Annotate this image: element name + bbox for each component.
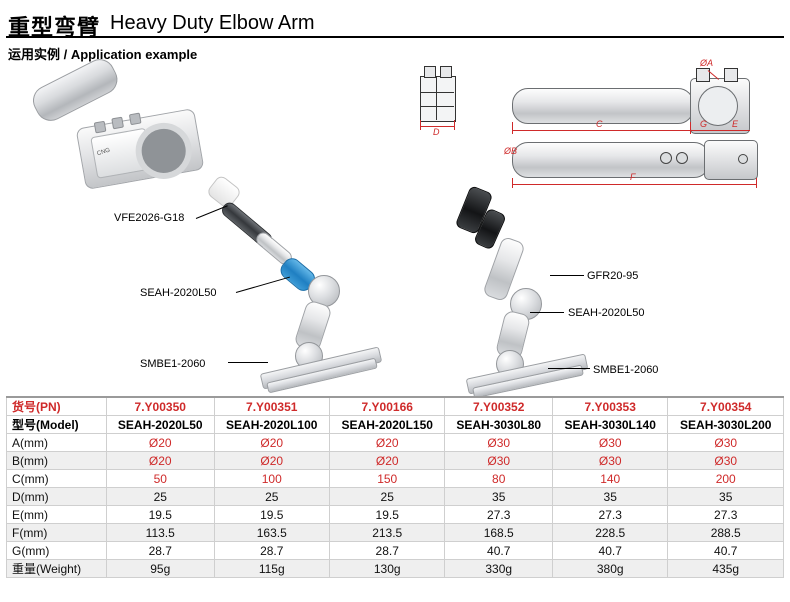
row-header-pn: 货号(PN)	[7, 397, 107, 416]
label-gfr20-95: GFR20-95	[587, 270, 638, 282]
dim-label-c: C	[596, 119, 603, 129]
cell-g-4: 40.7	[445, 542, 553, 560]
cell-d-2: 25	[214, 488, 329, 506]
cell-weight-6: 435g	[668, 560, 784, 578]
cell-f-1: 113.5	[107, 524, 215, 542]
row-header-g: G(mm)	[7, 542, 107, 560]
cell-e-4: 27.3	[445, 506, 553, 524]
cell-model-1: SEAH-2020L50	[107, 416, 215, 434]
spec-table-wrapper: 货号(PN) 7.Y00350 7.Y00351 7.Y00166 7.Y003…	[6, 396, 784, 578]
table-row-f: F(mm) 113.5 163.5 213.5 168.5 228.5 288.…	[7, 524, 784, 542]
cell-f-2: 163.5	[214, 524, 329, 542]
dim-label-b: ØB	[504, 146, 517, 156]
row-header-b: B(mm)	[7, 452, 107, 470]
col-pn-3: 7.Y00166	[329, 397, 444, 416]
cell-model-2: SEAH-2020L100	[214, 416, 329, 434]
table-row-e: E(mm) 19.5 19.5 19.5 27.3 27.3 27.3	[7, 506, 784, 524]
cell-e-2: 19.5	[214, 506, 329, 524]
cell-a-4: Ø30	[445, 434, 553, 452]
row-header-e: E(mm)	[7, 506, 107, 524]
cell-c-4: 80	[445, 470, 553, 488]
header-divider	[6, 36, 784, 38]
photo-clamp-assembly: CNG	[18, 74, 228, 194]
label-vfe2026-g18: VFE2026-G18	[114, 212, 184, 224]
table-row-model: 型号(Model) SEAH-2020L50 SEAH-2020L100 SEA…	[7, 416, 784, 434]
photo-assembly-left	[200, 70, 420, 390]
label-smbe1-2060-left: SMBE1-2060	[140, 358, 205, 370]
page-header: 重型弯臂 Heavy Duty Elbow Arm	[0, 8, 790, 38]
cell-a-6: Ø30	[668, 434, 784, 452]
cell-c-6: 200	[668, 470, 784, 488]
clamp-body-graphic: CNG	[76, 108, 205, 190]
dim-ext-line	[756, 178, 757, 188]
cell-c-2: 100	[214, 470, 329, 488]
row-header-model: 型号(Model)	[7, 416, 107, 434]
cell-g-1: 28.7	[107, 542, 215, 560]
cell-g-6: 40.7	[668, 542, 784, 560]
col-pn-4: 7.Y00352	[445, 397, 553, 416]
cell-e-6: 27.3	[668, 506, 784, 524]
clamp-bolt	[129, 113, 142, 126]
dim-ext-line	[690, 122, 691, 134]
head-bolt	[724, 68, 738, 82]
col-pn-5: 7.Y00353	[552, 397, 667, 416]
cell-a-3: Ø20	[329, 434, 444, 452]
endview-bolt	[440, 66, 452, 78]
endview-line	[420, 106, 454, 107]
cell-b-1: Ø20	[107, 452, 215, 470]
cell-model-3: SEAH-2020L150	[329, 416, 444, 434]
dim-line-f	[512, 184, 756, 185]
tube-graphic	[28, 54, 123, 126]
table-row-b: B(mm) Ø20 Ø20 Ø20 Ø30 Ø30 Ø30	[7, 452, 784, 470]
endview-line	[436, 76, 437, 120]
leader-line	[530, 312, 564, 313]
cell-g-5: 40.7	[552, 542, 667, 560]
dim-ext-line	[512, 178, 513, 188]
row-header-weight: 重量(Weight)	[7, 560, 107, 578]
cell-model-4: SEAH-3030L80	[445, 416, 553, 434]
bore-hole	[738, 154, 748, 164]
cell-d-5: 35	[552, 488, 667, 506]
arm-bottom-head-graphic	[704, 140, 758, 180]
cell-weight-5: 380g	[552, 560, 667, 578]
dim-label-f: F	[630, 172, 636, 182]
table-row-d: D(mm) 25 25 25 35 35 35	[7, 488, 784, 506]
cell-a-1: Ø20	[107, 434, 215, 452]
dim-ext-line	[420, 120, 421, 130]
clamp-bolt	[111, 117, 124, 130]
table-row-c: C(mm) 50 100 150 80 140 200	[7, 470, 784, 488]
row-header-d: D(mm)	[7, 488, 107, 506]
cell-e-5: 27.3	[552, 506, 667, 524]
cell-g-2: 28.7	[214, 542, 329, 560]
cell-model-5: SEAH-3030L140	[552, 416, 667, 434]
cell-weight-3: 130g	[329, 560, 444, 578]
cell-d-4: 35	[445, 488, 553, 506]
cell-d-1: 25	[107, 488, 215, 506]
leader-line	[550, 275, 584, 276]
col-pn-1: 7.Y00350	[107, 397, 215, 416]
dim-line-c	[512, 130, 690, 131]
cell-f-3: 213.5	[329, 524, 444, 542]
cell-b-2: Ø20	[214, 452, 329, 470]
cell-c-5: 140	[552, 470, 667, 488]
cell-b-5: Ø30	[552, 452, 667, 470]
bore-hole	[660, 152, 672, 164]
endview-bolt	[424, 66, 436, 78]
leader-line	[228, 362, 268, 363]
endview-line	[420, 92, 454, 93]
table-header-row: 货号(PN) 7.Y00350 7.Y00351 7.Y00166 7.Y003…	[7, 397, 784, 416]
cell-weight-4: 330g	[445, 560, 553, 578]
dim-label-a: ØA	[700, 58, 713, 68]
row-header-f: F(mm)	[7, 524, 107, 542]
clamp-bolt	[94, 121, 107, 134]
col-pn-6: 7.Y00354	[668, 397, 784, 416]
label-seah-2020l50-left: SEAH-2020L50	[140, 287, 216, 299]
table-row-g: G(mm) 28.7 28.7 28.7 40.7 40.7 40.7	[7, 542, 784, 560]
leader-line	[548, 368, 590, 369]
cell-a-2: Ø20	[214, 434, 329, 452]
dim-line-e	[724, 130, 750, 131]
cell-c-1: 50	[107, 470, 215, 488]
page-title-en: Heavy Duty Elbow Arm	[110, 12, 315, 35]
col-pn-2: 7.Y00351	[214, 397, 329, 416]
table-row-weight: 重量(Weight) 95g 115g 130g 330g 380g 435g	[7, 560, 784, 578]
cell-e-1: 19.5	[107, 506, 215, 524]
cell-e-3: 19.5	[329, 506, 444, 524]
cell-b-6: Ø30	[668, 452, 784, 470]
cell-model-6: SEAH-3030L200	[668, 416, 784, 434]
cell-d-3: 25	[329, 488, 444, 506]
dim-label-e: E	[732, 119, 738, 129]
dim-label-d: D	[433, 127, 440, 137]
dim-ext-line	[454, 120, 455, 130]
dim-ext-line	[512, 122, 513, 134]
cell-f-5: 228.5	[552, 524, 667, 542]
dim-label-g: G	[700, 119, 707, 129]
row-header-a: A(mm)	[7, 434, 107, 452]
cell-b-4: Ø30	[445, 452, 553, 470]
dim-line-g	[690, 130, 724, 131]
cell-a-5: Ø30	[552, 434, 667, 452]
cell-b-3: Ø20	[329, 452, 444, 470]
cell-weight-2: 115g	[214, 560, 329, 578]
technical-drawing: D C G E ØA ØB F	[412, 62, 790, 192]
endview-body	[420, 76, 456, 122]
cell-f-6: 288.5	[668, 524, 784, 542]
arm-tube-graphic	[512, 88, 694, 124]
cell-g-3: 28.7	[329, 542, 444, 560]
label-seah-2020l50-right: SEAH-2020L50	[568, 307, 644, 319]
cell-weight-1: 95g	[107, 560, 215, 578]
spec-table: 货号(PN) 7.Y00350 7.Y00351 7.Y00166 7.Y003…	[6, 396, 784, 578]
label-smbe1-2060-right: SMBE1-2060	[593, 364, 658, 376]
cell-f-4: 168.5	[445, 524, 553, 542]
bore-hole	[676, 152, 688, 164]
cell-c-3: 150	[329, 470, 444, 488]
table-row-a: A(mm) Ø20 Ø20 Ø20 Ø30 Ø30 Ø30	[7, 434, 784, 452]
row-header-c: C(mm)	[7, 470, 107, 488]
cell-d-6: 35	[668, 488, 784, 506]
